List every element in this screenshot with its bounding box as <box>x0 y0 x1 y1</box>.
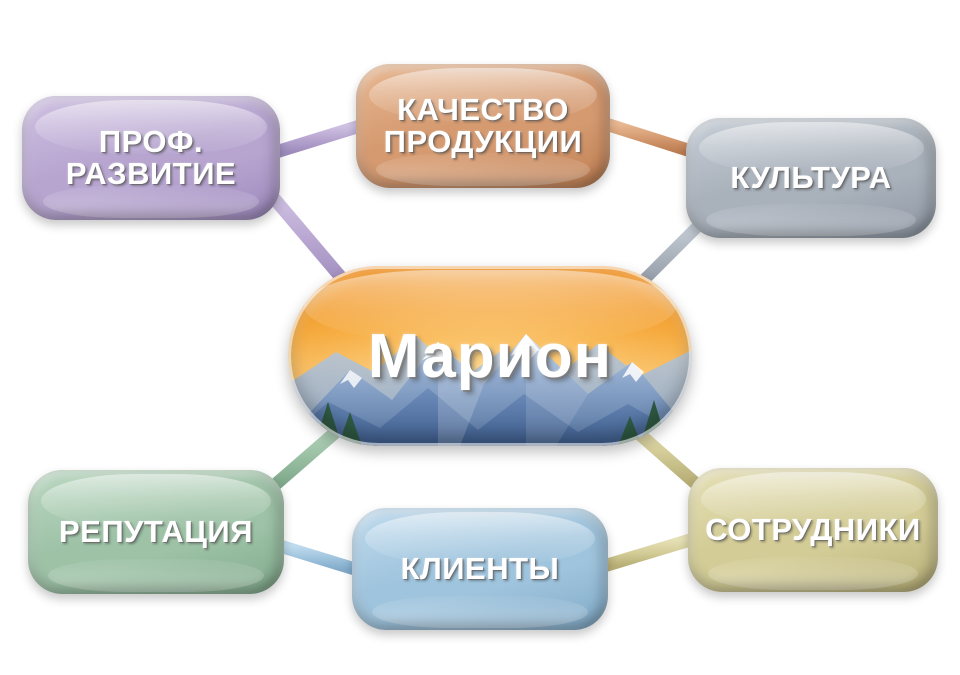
node-label: ПРОФ. РАЗВИТИЕ <box>56 126 246 190</box>
connector-kachestvo-to-kultura <box>606 124 694 152</box>
connector-klienty-to-sotrudniki <box>604 540 690 566</box>
node-bottom-reflection <box>706 204 916 235</box>
diagram-canvas: ПРОФ. РАЗВИТИЕ КАЧЕСТВО ПРОДУКЦИИ КУЛЬТУ… <box>0 0 960 675</box>
connector-prof-to-kachestvo <box>276 126 360 152</box>
node-label: РЕПУТАЦИЯ <box>49 516 263 548</box>
node-sotrudniki[interactable]: СОТРУДНИКИ <box>688 468 938 592</box>
node-label: КЛИЕНТЫ <box>391 553 570 585</box>
center-node-marion[interactable]: Марион <box>288 266 692 446</box>
node-kachestvo-produkcii[interactable]: КАЧЕСТВО ПРОДУКЦИИ <box>356 64 610 188</box>
connector-reputaciya-to-klienty <box>280 546 358 570</box>
node-bottom-reflection <box>708 557 918 589</box>
node-label: СОТРУДНИКИ <box>695 514 931 546</box>
node-klienty[interactable]: КЛИЕНТЫ <box>352 508 608 630</box>
node-prof-razvitie[interactable]: ПРОФ. РАЗВИТИЕ <box>22 96 280 220</box>
node-reputaciya[interactable]: РЕПУТАЦИЯ <box>28 470 284 594</box>
node-kultura[interactable]: КУЛЬТУРА <box>686 118 936 238</box>
node-bottom-reflection <box>48 559 263 591</box>
center-node-label: Марион <box>288 266 692 446</box>
node-bottom-reflection <box>372 596 587 628</box>
node-label: КАЧЕСТВО ПРОДУКЦИИ <box>374 94 593 158</box>
node-label: КУЛЬТУРА <box>720 162 901 194</box>
